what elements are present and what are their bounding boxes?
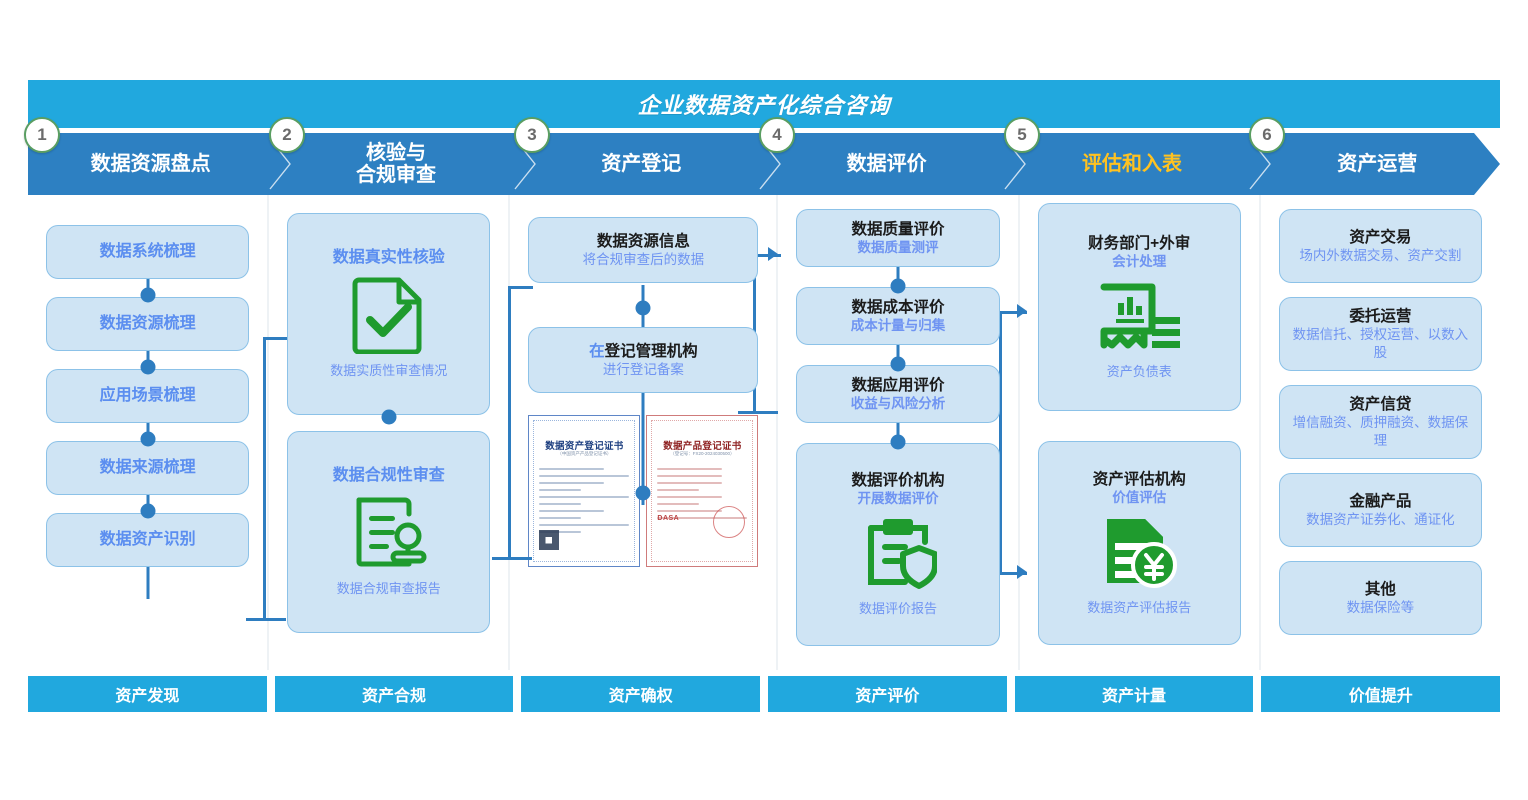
certificate-data-product: 数据产品登记证书 （登记号：FX20-2024030500） DASA [646, 415, 758, 567]
card-title: 数据系统梳理 [100, 242, 196, 262]
stage-title-6: 资产运营 [1337, 153, 1417, 175]
card-subtitle: 开展数据评价 [858, 490, 939, 508]
stage-title-2: 核验与 合规审查 [356, 142, 436, 187]
card-data-authenticity-verification[interactable]: 数据真实性核验 数据实质性审查情况 [287, 213, 490, 415]
card-title: 数据资产识别 [100, 530, 196, 550]
card-data-system-inventory[interactable]: 数据系统梳理 [46, 225, 249, 279]
stage-number-6: 6 [1249, 117, 1285, 153]
certificate-subtitle: （中国资产产品登记证书） [529, 451, 639, 457]
col1-dot-2 [140, 360, 155, 375]
card-title: 资产信贷 [1349, 395, 1411, 414]
card-subtitle: 进行登记备案 [603, 361, 684, 379]
card-subtitle: 数据资产证券化、通证化 [1298, 511, 1463, 529]
banner-title: 企业数据资产化综合咨询 [637, 88, 890, 120]
document-check-icon [351, 274, 427, 359]
clipboard-shield-icon [859, 514, 937, 597]
stage-number-6-text: 6 [1262, 125, 1271, 145]
certificate-title: 数据产品登记证书 [647, 438, 757, 452]
card-data-source-inventory[interactable]: 数据来源梳理 [46, 441, 249, 495]
stage-column-3: 数据资源信息 将合规审查后的数据 在登记管理机构 进行登记备案 数据资产登记证书… [510, 195, 778, 670]
footer-cell-6: 价值提升 [1261, 676, 1500, 712]
certificate-logo: DASA [657, 515, 679, 522]
card-data-application-evaluation[interactable]: 数据应用评价 收益与风险分析 [796, 365, 999, 423]
stage-number-5: 5 [1004, 117, 1040, 153]
card-subtitle: 数据质量测评 [858, 239, 939, 257]
certificate-data-asset: 数据资产登记证书 （中国资产产品登记证书） [528, 415, 640, 567]
card-subtitle: 场内外数据交易、资产交割 [1291, 247, 1469, 265]
stage-header-6[interactable]: 资产运营 [1255, 133, 1500, 195]
card-subtitle: 将合规审查后的数据 [583, 251, 705, 269]
card-caption: 数据资产评估报告 [1087, 600, 1191, 617]
card-title: 委托运营 [1349, 307, 1411, 326]
certificate-title: 数据资产登记证书 [529, 438, 639, 452]
footer-label-6: 价值提升 [1349, 682, 1413, 706]
card-finance-external-audit[interactable]: 财务部门+外审 会计处理 [1038, 203, 1241, 411]
card-title: 登记管理机构 [605, 343, 698, 360]
footer-cell-1: 资产发现 [28, 676, 267, 712]
col1-dot-1 [140, 288, 155, 303]
footer-cell-5: 资产计量 [1015, 676, 1254, 712]
stage-column-6: 资产交易 场内外数据交易、资产交割 委托运营 数据信托、授权运营、以数入股 资产… [1261, 195, 1500, 670]
card-subtitle: 成本计量与归集 [851, 317, 946, 335]
footer-cell-2: 资产合规 [275, 676, 514, 712]
stage-number-2: 2 [269, 117, 305, 153]
col2-dot-1 [381, 410, 396, 425]
card-data-compliance-review[interactable]: 数据合规性审查 数据合规审查报告 [287, 431, 490, 633]
col1-dot-3 [140, 432, 155, 447]
card-subtitle: 会计处理 [1112, 253, 1166, 271]
col3-dot-2 [636, 486, 651, 501]
stage-title-3: 资产登记 [601, 153, 681, 175]
card-subtitle: 增信融资、质押融资、数据保理 [1280, 414, 1481, 449]
stage-title-5: 评估和入表 [1082, 153, 1182, 175]
stage-number-3-text: 3 [527, 125, 536, 145]
footer-cell-4: 资产评价 [768, 676, 1007, 712]
footer-cell-3: 资产确权 [521, 676, 760, 712]
col4-dot-3 [891, 435, 906, 450]
stage-header-5[interactable]: 评估和入表 [1009, 133, 1254, 195]
card-title: 资产交易 [1349, 228, 1411, 247]
valuation-yen-icon [1099, 513, 1179, 596]
card-subtitle: 数据保险等 [1339, 599, 1423, 617]
footer-label-5: 资产计量 [1102, 682, 1166, 706]
card-caption: 数据评价报告 [859, 601, 937, 618]
card-title: 数据质量评价 [852, 220, 945, 239]
footer-label-4: 资产评价 [855, 682, 919, 706]
card-title: 数据应用评价 [852, 376, 945, 395]
card-title: 应用场景梳理 [100, 386, 196, 406]
footer-label-1: 资产发现 [115, 682, 179, 706]
stage-number-1: 1 [24, 117, 60, 153]
card-data-resource-inventory[interactable]: 数据资源梳理 [46, 297, 249, 351]
stage-title-4: 数据评价 [847, 153, 927, 175]
card-title-line: 在登记管理机构 [589, 342, 698, 361]
stage-header-4[interactable]: 数据评价 [764, 133, 1009, 195]
certificate-body-lines [539, 468, 629, 538]
stage-body-row: 数据系统梳理 数据资源梳理 应用场景梳理 数据来源梳理 数据资产识别 [28, 195, 1500, 670]
card-data-asset-identification[interactable]: 数据资产识别 [46, 513, 249, 567]
card-title: 数据资源梳理 [100, 314, 196, 334]
stage-column-2: 数据真实性核验 数据实质性审查情况 数据合规性审查 [269, 195, 510, 670]
card-subtitle: 数据信托、授权运营、以数入股 [1280, 326, 1481, 361]
stage-number-3: 3 [514, 117, 550, 153]
qr-code-icon [539, 530, 559, 550]
stage-title-1: 数据资源盘点 [91, 153, 211, 175]
col4-dot-2 [891, 357, 906, 372]
card-title: 其他 [1365, 580, 1396, 599]
card-title: 数据来源梳理 [100, 458, 196, 478]
card-title: 资产评估机构 [1093, 470, 1186, 489]
card-caption: 资产负债表 [1107, 364, 1172, 381]
card-caption: 数据合规审查报告 [337, 581, 441, 598]
card-title: 数据合规性审查 [333, 466, 445, 486]
footer-label-3: 资产确权 [609, 682, 673, 706]
card-application-scenario-inventory[interactable]: 应用场景梳理 [46, 369, 249, 423]
card-data-quality-evaluation[interactable]: 数据质量评价 数据质量测评 [796, 209, 999, 267]
card-entrusted-operation[interactable]: 委托运营 数据信托、授权运营、以数入股 [1279, 297, 1482, 371]
stage-number-5-text: 5 [1017, 125, 1026, 145]
stage-number-1-text: 1 [37, 125, 46, 145]
certificate-subtitle: （登记号：FX20-2024030500） [647, 451, 757, 457]
stage-header-2[interactable]: 核验与 合规审查 [273, 133, 518, 195]
footer-row: 资产发现 资产合规 资产确权 资产评价 资产计量 价值提升 [28, 676, 1500, 712]
balance-sheet-icon [1096, 277, 1182, 360]
stage-header-3[interactable]: 资产登记 [519, 133, 764, 195]
card-asset-trading[interactable]: 资产交易 场内外数据交易、资产交割 [1279, 209, 1482, 283]
card-title: 数据资源信息 [597, 232, 690, 251]
card-asset-appraisal-agency[interactable]: 资产评估机构 价值评估 [1038, 441, 1241, 645]
card-title: 金融产品 [1349, 492, 1411, 511]
card-subtitle: 价值评估 [1112, 489, 1166, 507]
card-data-resource-info[interactable]: 数据资源信息 将合规审查后的数据 [528, 217, 758, 283]
card-asset-credit[interactable]: 资产信贷 增信融资、质押融资、数据保理 [1279, 385, 1482, 459]
card-financial-products[interactable]: 金融产品 数据资产证券化、通证化 [1279, 473, 1482, 547]
document-stamp-icon [349, 492, 429, 577]
footer-label-2: 资产合规 [362, 682, 426, 706]
card-others[interactable]: 其他 数据保险等 [1279, 561, 1482, 635]
diagram-root: 企业数据资产化综合咨询 数据资源盘点 核验与 合规审查 资产登记 数据评价 评估… [0, 0, 1528, 800]
card-title: 数据成本评价 [852, 298, 945, 317]
card-data-evaluation-agency[interactable]: 数据评价机构 开展数据评价 数据评价报告 [796, 443, 999, 646]
stage-number-4-text: 4 [772, 125, 781, 145]
col4-dot-1 [891, 279, 906, 294]
stage-number-2-text: 2 [282, 125, 291, 145]
card-title-prefix: 在 [589, 343, 605, 360]
card-title: 数据真实性核验 [333, 248, 445, 268]
col1-dot-4 [140, 504, 155, 519]
stage-header-1[interactable]: 数据资源盘点 [28, 133, 273, 195]
col3-dot-1 [636, 301, 651, 316]
stage-column-1: 数据系统梳理 数据资源梳理 应用场景梳理 数据来源梳理 数据资产识别 [28, 195, 269, 670]
stage-number-4: 4 [759, 117, 795, 153]
card-data-cost-evaluation[interactable]: 数据成本评价 成本计量与归集 [796, 287, 999, 345]
stage-column-4: 数据质量评价 数据质量测评 数据成本评价 成本计量与归集 数据应用评价 收益与风… [778, 195, 1019, 670]
card-caption: 数据实质性审查情况 [330, 363, 447, 380]
card-registration-authority[interactable]: 在登记管理机构 进行登记备案 [528, 327, 758, 393]
card-title: 财务部门+外审 [1088, 234, 1190, 253]
stage-column-5: 财务部门+外审 会计处理 [1020, 195, 1261, 670]
card-title: 数据评价机构 [852, 471, 945, 490]
card-subtitle: 收益与风险分析 [851, 395, 946, 413]
